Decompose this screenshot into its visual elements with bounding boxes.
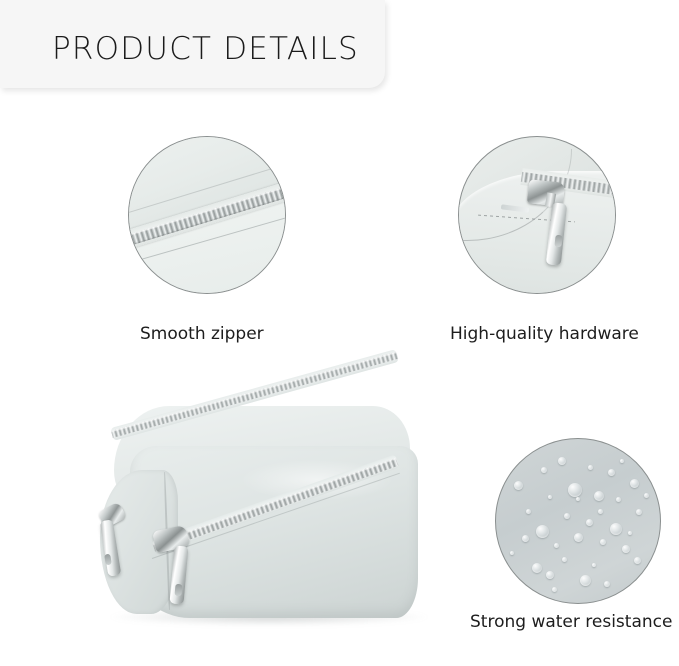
water-droplet bbox=[546, 571, 554, 579]
water-droplet bbox=[522, 535, 529, 542]
detail-image-strong-water-resistance bbox=[495, 438, 661, 604]
water-droplet bbox=[562, 557, 567, 562]
pouch-front-pull-hole bbox=[174, 584, 182, 597]
page-title: PRODUCT DETAILS bbox=[52, 31, 359, 67]
water-droplet bbox=[644, 493, 649, 498]
water-droplet bbox=[552, 587, 557, 592]
water-droplet bbox=[548, 495, 552, 499]
detail-image-high-quality-hardware bbox=[458, 136, 616, 294]
caption-smooth-zipper: Smooth zipper bbox=[140, 324, 264, 344]
water-droplet bbox=[630, 479, 639, 488]
water-droplet bbox=[574, 533, 583, 542]
water-droplet bbox=[568, 483, 582, 497]
water-droplet bbox=[616, 497, 621, 502]
water-droplet bbox=[564, 513, 570, 519]
water-droplet bbox=[558, 457, 566, 465]
water-droplet bbox=[536, 525, 549, 538]
water-droplet bbox=[608, 469, 615, 476]
water-droplet bbox=[600, 539, 606, 545]
product-image-pouch bbox=[92, 398, 452, 630]
water-droplet bbox=[526, 509, 531, 514]
water-droplet bbox=[541, 467, 547, 473]
zipper-pull-hole bbox=[554, 235, 562, 248]
water-droplet bbox=[514, 481, 523, 490]
water-droplet bbox=[554, 543, 559, 548]
header-banner: PRODUCT DETAILS bbox=[0, 0, 385, 88]
water-droplet bbox=[594, 491, 604, 501]
water-droplet bbox=[598, 509, 603, 514]
water-droplet bbox=[634, 557, 641, 564]
water-droplet bbox=[604, 581, 610, 587]
water-droplet bbox=[580, 575, 591, 586]
water-droplet bbox=[636, 509, 642, 515]
water-droplet bbox=[532, 563, 542, 573]
water-droplet bbox=[576, 497, 580, 501]
water-droplet bbox=[586, 519, 593, 526]
detail-image-smooth-zipper bbox=[128, 136, 286, 294]
water-droplet bbox=[622, 545, 630, 553]
caption-strong-water-resistance: Strong water resistance bbox=[470, 612, 672, 632]
water-droplet bbox=[610, 523, 622, 535]
caption-high-quality-hardware: High-quality hardware bbox=[450, 324, 639, 344]
water-droplet bbox=[628, 531, 632, 535]
water-droplet bbox=[620, 459, 624, 463]
water-droplet bbox=[588, 465, 593, 470]
water-droplet bbox=[510, 551, 514, 555]
water-droplet bbox=[592, 563, 596, 567]
